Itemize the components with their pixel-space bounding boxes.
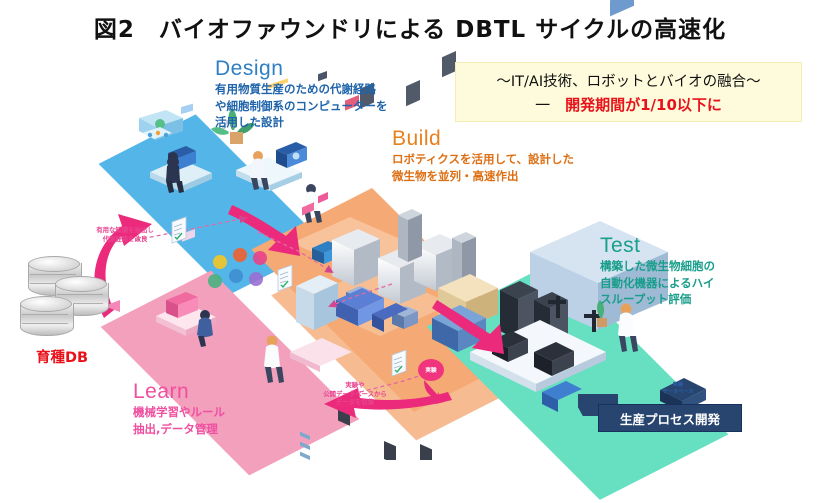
section-design: Design 有用物質生産のための代謝経路 や細胞制御系のコンピューターを 活用… xyxy=(215,58,388,131)
highlight-callout: 〜IT/AI技術、ロボットとバイオの融合〜 一 開発期間が1/10以下に xyxy=(455,62,802,122)
section-build-heading: Build xyxy=(392,128,574,150)
output-box: 生産プロセス開発 xyxy=(598,404,742,432)
section-test: Test 構築した微生物細胞の 自動化機器によるハイ スループット評価 xyxy=(600,235,715,308)
callout-line-1: 〜IT/AI技術、ロボットとバイオの融合〜 xyxy=(496,70,760,91)
database-cylinder xyxy=(20,296,72,340)
annotation-bottom-note: 実験や 公開データベースから データを収集 xyxy=(300,381,410,407)
section-build: Build ロボティクスを活用して、設計した 微生物を並列・高速作出 xyxy=(392,128,574,184)
figure-title: 図2 バイオファウンドリによる DBTL サイクルの高速化 xyxy=(0,10,820,44)
database-label: 育種DB xyxy=(14,346,110,367)
callout-line-2-highlight: 開発期間が1/10以下に xyxy=(565,96,722,114)
section-build-body: ロボティクスを活用して、設計した 微生物を並列・高速作出 xyxy=(392,151,574,184)
section-test-body: 構築した微生物細胞の 自動化機器によるハイ スループット評価 xyxy=(600,258,715,308)
section-design-body: 有用物質生産のための代謝経路 や細胞制御系のコンピューターを 活用した設計 xyxy=(215,81,388,131)
figure-canvas: 図2 バイオファウンドリによる DBTL サイクルの高速化 xyxy=(0,0,820,460)
platform-learn xyxy=(125,268,335,478)
section-design-heading: Design xyxy=(215,58,388,80)
callout-line-2: 一 開発期間が1/10以下に xyxy=(535,94,722,115)
annotation-left-note: 有用な知識を抽出し 代謝経路を改良 xyxy=(92,226,158,243)
section-learn-body: 機械学習やルール 抽出,データ管理 xyxy=(133,404,225,437)
section-learn-heading: Learn xyxy=(133,381,225,403)
section-test-heading: Test xyxy=(600,235,715,257)
experiment-bubble: 実験 xyxy=(418,359,444,381)
section-learn: Learn 機械学習やルール 抽出,データ管理 xyxy=(133,381,225,437)
callout-line-2-prefix: 一 xyxy=(535,96,565,114)
experiment-database-label: 実験 データベース xyxy=(656,382,700,396)
